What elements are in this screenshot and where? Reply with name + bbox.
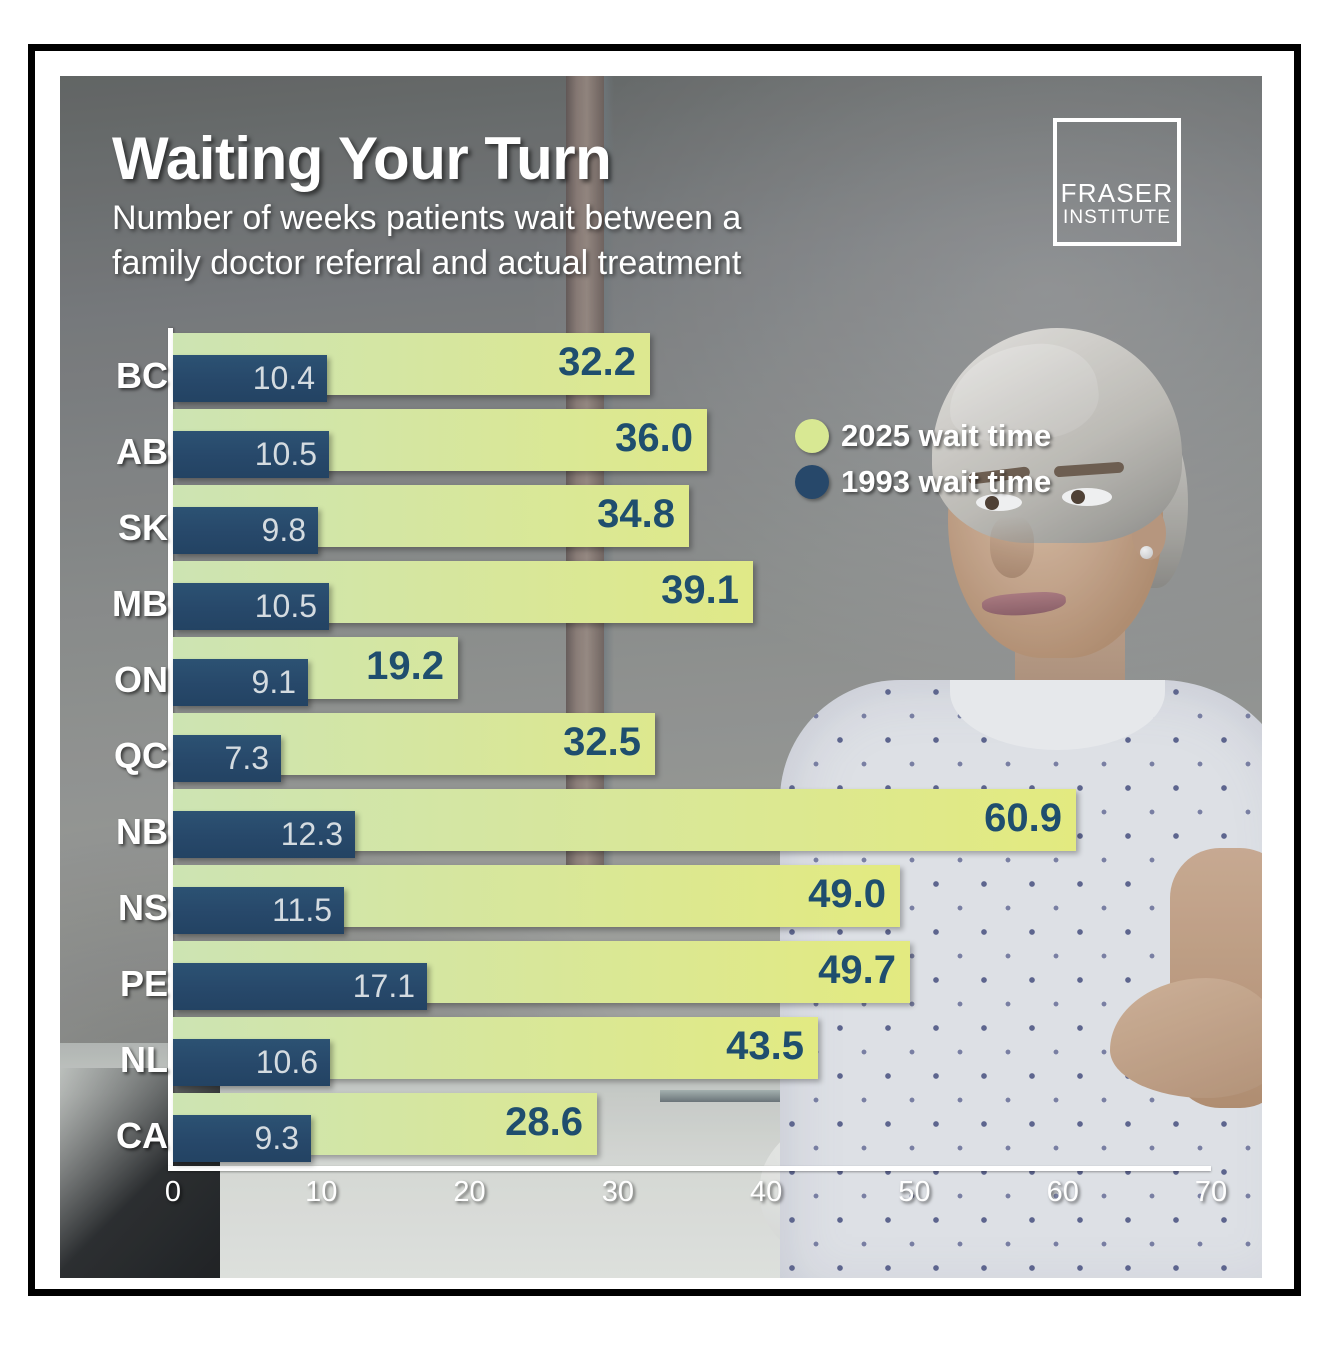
category-label-ab: AB [116, 431, 168, 473]
x-tick-20: 20 [453, 1176, 485, 1209]
bar-value-2025-sk: 34.8 [597, 492, 675, 537]
bar-1993-ab: 10.5 [173, 431, 329, 478]
category-label-qc: QC [114, 735, 168, 777]
legend-item-2025: 2025 wait time [795, 413, 1051, 459]
chart-row: ON19.29.1 [60, 637, 1262, 713]
x-tick-50: 50 [898, 1176, 930, 1209]
bar-value-1993-sk: 9.8 [262, 512, 306, 549]
bar-1993-qc: 7.3 [173, 735, 281, 782]
x-tick-60: 60 [1047, 1176, 1079, 1209]
bar-value-1993-qc: 7.3 [225, 740, 269, 777]
category-label-nb: NB [116, 811, 168, 853]
bar-value-2025-nl: 43.5 [726, 1024, 804, 1069]
bar-value-1993-on: 9.1 [252, 664, 296, 701]
chart-row: SK34.89.8 [60, 485, 1262, 561]
category-label-pe: PE [120, 963, 168, 1005]
bar-value-1993-ns: 11.5 [272, 892, 332, 929]
bar-value-2025-qc: 32.5 [563, 720, 641, 765]
bar-value-2025-ab: 36.0 [615, 416, 693, 461]
legend-item-1993: 1993 wait time [795, 459, 1051, 505]
bar-chart: BC32.210.4AB36.010.5SK34.89.8MB39.110.5O… [60, 76, 1262, 1278]
category-label-on: ON [114, 659, 168, 701]
bar-1993-nl: 10.6 [173, 1039, 330, 1086]
bar-value-1993-nb: 12.3 [281, 816, 343, 853]
chart-row: NL43.510.6 [60, 1017, 1262, 1093]
legend-label-2025: 2025 wait time [841, 418, 1051, 454]
bar-value-1993-pe: 17.1 [353, 968, 415, 1005]
bar-value-2025-on: 19.2 [366, 644, 444, 689]
chart-row: PE49.717.1 [60, 941, 1262, 1017]
bar-value-2025-nb: 60.9 [984, 796, 1062, 841]
bar-1993-on: 9.1 [173, 659, 308, 706]
legend-swatch-2025-icon [795, 419, 829, 453]
chart-row: AB36.010.5 [60, 409, 1262, 485]
poster-frame: Waiting Your Turn Number of weeks patien… [28, 44, 1301, 1296]
chart-row: NB60.912.3 [60, 789, 1262, 865]
bar-value-1993-ca: 9.3 [255, 1120, 299, 1157]
bar-1993-sk: 9.8 [173, 507, 318, 554]
bar-value-2025-mb: 39.1 [661, 568, 739, 613]
x-tick-40: 40 [750, 1176, 782, 1209]
chart-row: CA28.69.3 [60, 1093, 1262, 1169]
bar-1993-nb: 12.3 [173, 811, 355, 858]
bar-value-2025-ns: 49.0 [808, 872, 886, 917]
bar-value-1993-bc: 10.4 [253, 360, 315, 397]
chart-row: MB39.110.5 [60, 561, 1262, 637]
chart-row: QC32.57.3 [60, 713, 1262, 789]
x-tick-30: 30 [602, 1176, 634, 1209]
bar-value-1993-nl: 10.6 [256, 1044, 318, 1081]
bar-value-2025-bc: 32.2 [558, 340, 636, 385]
bar-1993-mb: 10.5 [173, 583, 329, 630]
category-label-mb: MB [112, 583, 168, 625]
bar-value-2025-ca: 28.6 [505, 1100, 583, 1145]
x-tick-10: 10 [305, 1176, 337, 1209]
x-tick-70: 70 [1195, 1176, 1227, 1209]
bar-1993-ca: 9.3 [173, 1115, 311, 1162]
legend-label-1993: 1993 wait time [841, 464, 1051, 500]
bar-value-2025-pe: 49.7 [818, 948, 896, 993]
bar-value-1993-ab: 10.5 [255, 436, 317, 473]
category-label-ns: NS [118, 887, 168, 929]
category-label-bc: BC [116, 355, 168, 397]
chart-row: NS49.011.5 [60, 865, 1262, 941]
bar-value-1993-mb: 10.5 [255, 588, 317, 625]
bar-1993-bc: 10.4 [173, 355, 327, 402]
legend-swatch-1993-icon [795, 465, 829, 499]
chart-row: BC32.210.4 [60, 333, 1262, 409]
category-label-nl: NL [120, 1039, 168, 1081]
category-label-ca: CA [116, 1115, 168, 1157]
category-label-sk: SK [118, 507, 168, 549]
bar-1993-ns: 11.5 [173, 887, 344, 934]
poster-canvas: Waiting Your Turn Number of weeks patien… [60, 76, 1262, 1278]
x-tick-0: 0 [165, 1176, 181, 1209]
bar-1993-pe: 17.1 [173, 963, 427, 1010]
chart-legend: 2025 wait time 1993 wait time [795, 413, 1051, 505]
